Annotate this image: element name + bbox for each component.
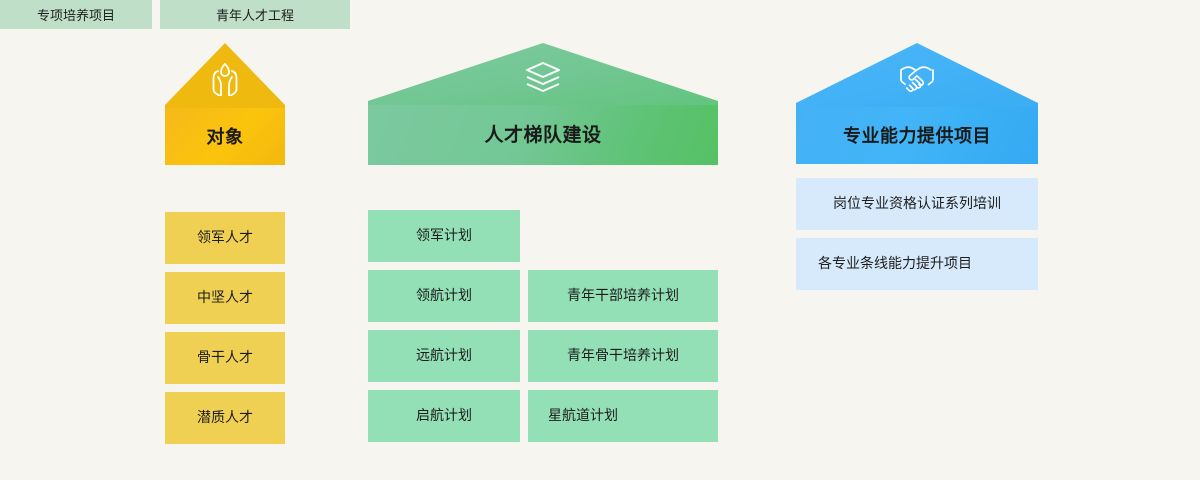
list-item[interactable]: 领军人才 bbox=[165, 212, 285, 264]
house-body-professional-capability: 专业能力提供项目 bbox=[796, 107, 1038, 164]
subheader-row-talent-echelon: 专项培养项目 青年人才工程 bbox=[0, 0, 350, 29]
house-objects[interactable]: 对象 bbox=[165, 43, 285, 165]
list-item[interactable]: 领航计划 bbox=[368, 270, 520, 322]
list-item[interactable]: 领军计划 bbox=[368, 210, 520, 262]
house-body-objects: 对象 bbox=[165, 108, 285, 165]
list-item[interactable]: 星航道计划 bbox=[528, 390, 718, 442]
house-title-professional-capability: 专业能力提供项目 bbox=[843, 127, 991, 145]
house-professional-capability[interactable]: 专业能力提供项目 bbox=[796, 43, 1038, 164]
roof-professional-capability bbox=[796, 43, 1038, 108]
subheader-youth-program[interactable]: 青年人才工程 bbox=[160, 0, 350, 29]
house-body-talent-echelon: 人才梯队建设 bbox=[368, 105, 718, 165]
roof-objects bbox=[165, 43, 285, 109]
list-item[interactable]: 各专业条线能力提升项目 bbox=[796, 238, 1038, 290]
list-item[interactable]: 青年骨干培养计划 bbox=[528, 330, 718, 382]
list-item[interactable]: 潜质人才 bbox=[165, 392, 285, 444]
list-item[interactable]: 启航计划 bbox=[368, 390, 520, 442]
list-item[interactable]: 青年干部培养计划 bbox=[528, 270, 718, 322]
house-title-objects: 对象 bbox=[207, 128, 244, 146]
house-talent-echelon[interactable]: 人才梯队建设 bbox=[368, 43, 718, 165]
list-item[interactable]: 骨干人才 bbox=[165, 332, 285, 384]
roof-talent-echelon bbox=[368, 43, 718, 106]
list-item[interactable]: 远航计划 bbox=[368, 330, 520, 382]
list-item[interactable]: 中坚人才 bbox=[165, 272, 285, 324]
house-title-talent-echelon: 人才梯队建设 bbox=[484, 126, 601, 145]
subheader-special-program[interactable]: 专项培养项目 bbox=[0, 0, 152, 29]
list-item[interactable]: 岗位专业资格认证系列培训 bbox=[796, 178, 1038, 230]
diagram-canvas: 对象 领军人才 中坚人才 骨干人才 潜质人才 bbox=[0, 0, 1200, 480]
